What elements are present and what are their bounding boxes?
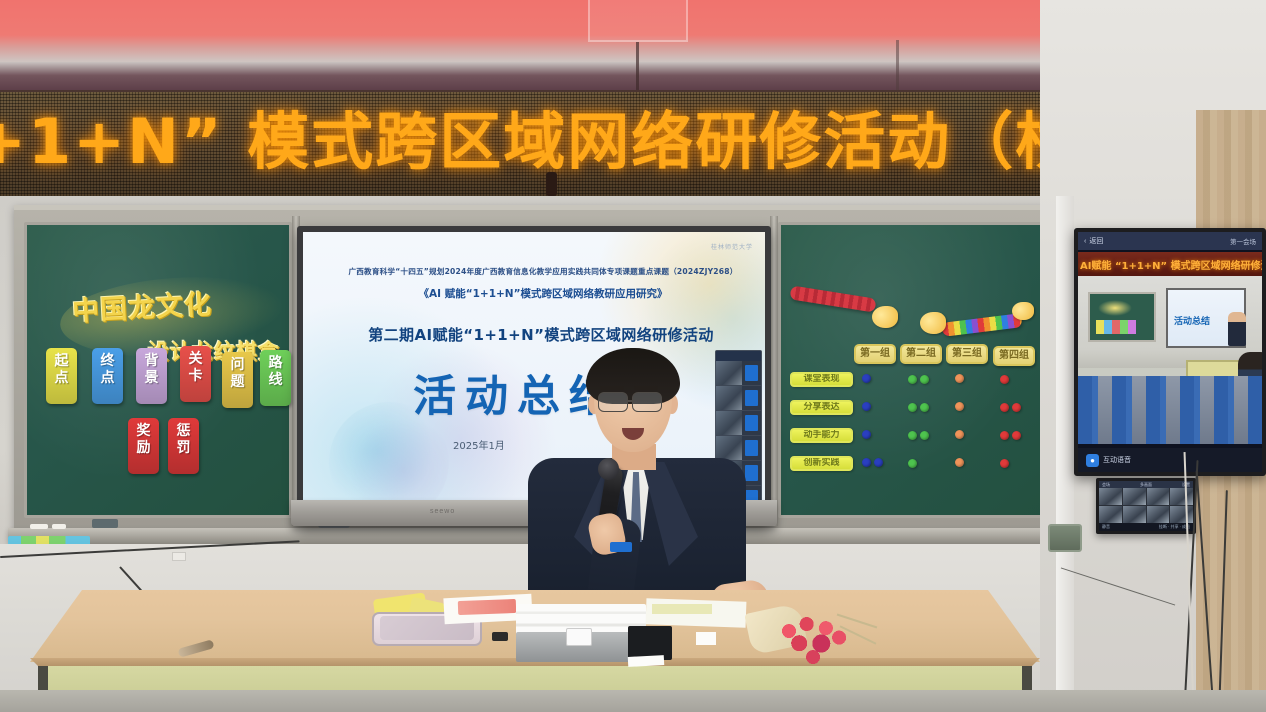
dragon-head-small	[1012, 302, 1034, 320]
grid-cell	[1123, 506, 1146, 523]
left-board-card: 路 线	[260, 350, 291, 406]
glasses-lens-left	[598, 392, 628, 412]
left-board-card: 惩 罚	[168, 418, 199, 474]
score-dot	[862, 374, 871, 383]
group-name-card: 第三组	[946, 344, 988, 364]
criteria-card: 创新实践	[790, 456, 853, 471]
ceiling-projector	[588, 0, 688, 42]
monitor-banner-text: AI赋能 “1+1+N” 模式跨区域网络研修活动	[1078, 257, 1262, 272]
criteria-card: 课堂表现	[790, 372, 853, 387]
score-dot	[1000, 403, 1009, 412]
score-dot	[1012, 403, 1021, 412]
slide-research-title: 《AI 赋能“1+1+N”模式跨区域网络教研应用研究》	[343, 286, 743, 301]
grid-cell	[1123, 488, 1146, 505]
grid-cell	[1147, 506, 1170, 523]
score-dot	[862, 402, 871, 411]
score-dot	[1000, 375, 1009, 384]
voice-interaction-button[interactable]: 互动语音	[1103, 455, 1131, 465]
score-dot	[1012, 431, 1021, 440]
presenter-eyebrow-right	[634, 386, 658, 390]
secondary-room-label: 会场	[1102, 482, 1110, 488]
blackboard-right	[778, 222, 1066, 518]
classroom-scene: +1+N” 模式跨区域网络研修活动（桥头小学分会场 中国龙文化 设计龙纹棋盒 起…	[0, 0, 1266, 712]
score-dot	[920, 375, 929, 384]
left-board-card: 起 点	[46, 348, 77, 404]
score-dot	[908, 403, 917, 412]
score-dot	[908, 459, 917, 468]
feed-slide-title: 活动总结	[1174, 314, 1210, 327]
score-dot	[920, 431, 929, 440]
desk-device	[566, 628, 592, 646]
score-dot	[1000, 459, 1009, 468]
score-dot	[862, 430, 871, 439]
slide-date: 2025年1月	[453, 437, 505, 452]
back-label: 返回	[1089, 236, 1103, 246]
left-board-card: 问 题	[222, 352, 253, 408]
criteria-card: 动手能力	[790, 428, 853, 443]
score-dot	[920, 403, 929, 412]
floor	[0, 690, 1266, 712]
secondary-monitor-top-bar: 会场 多画面 设置	[1099, 481, 1193, 488]
monitor-bottom-bar: ● 互动语音	[1078, 448, 1262, 472]
feed-presenter	[1228, 312, 1246, 346]
slide-project-line: 广西教育科学“十四五”规划2024年度广西教育信息化教学应用实践共同体专项课题重…	[333, 266, 753, 277]
wall-pillar	[1056, 196, 1074, 712]
feed-board-cards	[1096, 320, 1136, 334]
grid-cell	[1170, 506, 1193, 523]
secondary-layout-label: 多画面	[1140, 482, 1152, 488]
desk-card	[628, 655, 664, 667]
board-divider-right	[770, 216, 778, 526]
score-dot	[874, 458, 883, 467]
left-board-card: 终 点	[92, 348, 123, 404]
dragon-head-rainbow	[920, 312, 946, 334]
chalk-piece	[30, 524, 48, 529]
whiteboard-brand-label: seewo	[430, 508, 455, 515]
glasses-lens-right	[632, 392, 662, 412]
secondary-monitor-bottom-bar: 静音 挂断 · 共享 · 成员	[1099, 523, 1193, 531]
monitor-room-label: 第一会场	[1230, 236, 1256, 246]
feed-board-decoration	[1098, 300, 1132, 316]
score-dot	[955, 430, 964, 439]
back-button[interactable]: ‹ 返回	[1084, 236, 1103, 246]
grid-cell	[1147, 488, 1170, 505]
dragon-head-red	[872, 306, 898, 328]
score-dot	[908, 431, 917, 440]
slide-university-logo: 桂林师范大学	[711, 242, 753, 251]
monitor-video-feed: 活动总结	[1078, 276, 1262, 444]
score-dot	[908, 375, 917, 384]
grid-cell	[1099, 488, 1122, 505]
desk-paper-printed	[458, 599, 516, 615]
desk-remote	[492, 632, 508, 641]
score-dot	[862, 458, 871, 467]
desk-card	[696, 632, 716, 645]
banner-mic-fixture	[546, 172, 557, 196]
criteria-card: 分享表达	[790, 400, 853, 415]
glasses-bridge	[628, 400, 634, 402]
score-dot	[1000, 431, 1009, 440]
chevron-left-icon: ‹	[1084, 238, 1086, 245]
chalk-piece	[52, 524, 66, 529]
monitor-banner: AI赋能 “1+1+N” 模式跨区域网络研修活动	[1078, 252, 1262, 276]
group-name-card: 第四组	[993, 346, 1035, 366]
wall-speaker	[1048, 524, 1082, 552]
monitor-top-bar: ‹ 返回 第一会场	[1078, 232, 1262, 250]
left-board-card: 奖 励	[128, 418, 159, 474]
feed-blackboard	[1088, 292, 1156, 342]
microphone-icon[interactable]: ●	[1086, 454, 1099, 467]
secondary-conference-monitor[interactable]: 会场 多画面 设置 静音 挂断 · 共享 · 成员	[1096, 478, 1196, 534]
conference-monitor[interactable]: ‹ 返回 第一会场 AI赋能 “1+1+N” 模式跨区域网络研修活动 活动总结 …	[1074, 228, 1266, 476]
left-board-theme-title: 中国龙文化	[71, 282, 213, 328]
presenter-badge	[610, 542, 632, 552]
mute-label[interactable]: 静音	[1102, 524, 1110, 530]
wall-outlet	[172, 552, 186, 561]
feed-chairs	[1078, 376, 1262, 444]
group-name-card: 第二组	[900, 344, 942, 364]
presenter-eyebrow-left	[600, 386, 624, 390]
desk-note	[652, 604, 712, 614]
score-dot	[955, 374, 964, 383]
ceiling-cable	[896, 40, 899, 90]
score-dot	[955, 458, 964, 467]
group-name-card: 第一组	[854, 344, 896, 364]
projector-arm	[636, 42, 639, 90]
board-eraser	[92, 519, 118, 528]
score-dot	[955, 402, 964, 411]
grid-cell	[1099, 506, 1122, 523]
left-board-card: 背 景	[136, 348, 167, 404]
secondary-monitor-grid	[1099, 488, 1193, 523]
grid-cell	[1170, 488, 1193, 505]
left-board-card: 关 卡	[180, 346, 211, 402]
